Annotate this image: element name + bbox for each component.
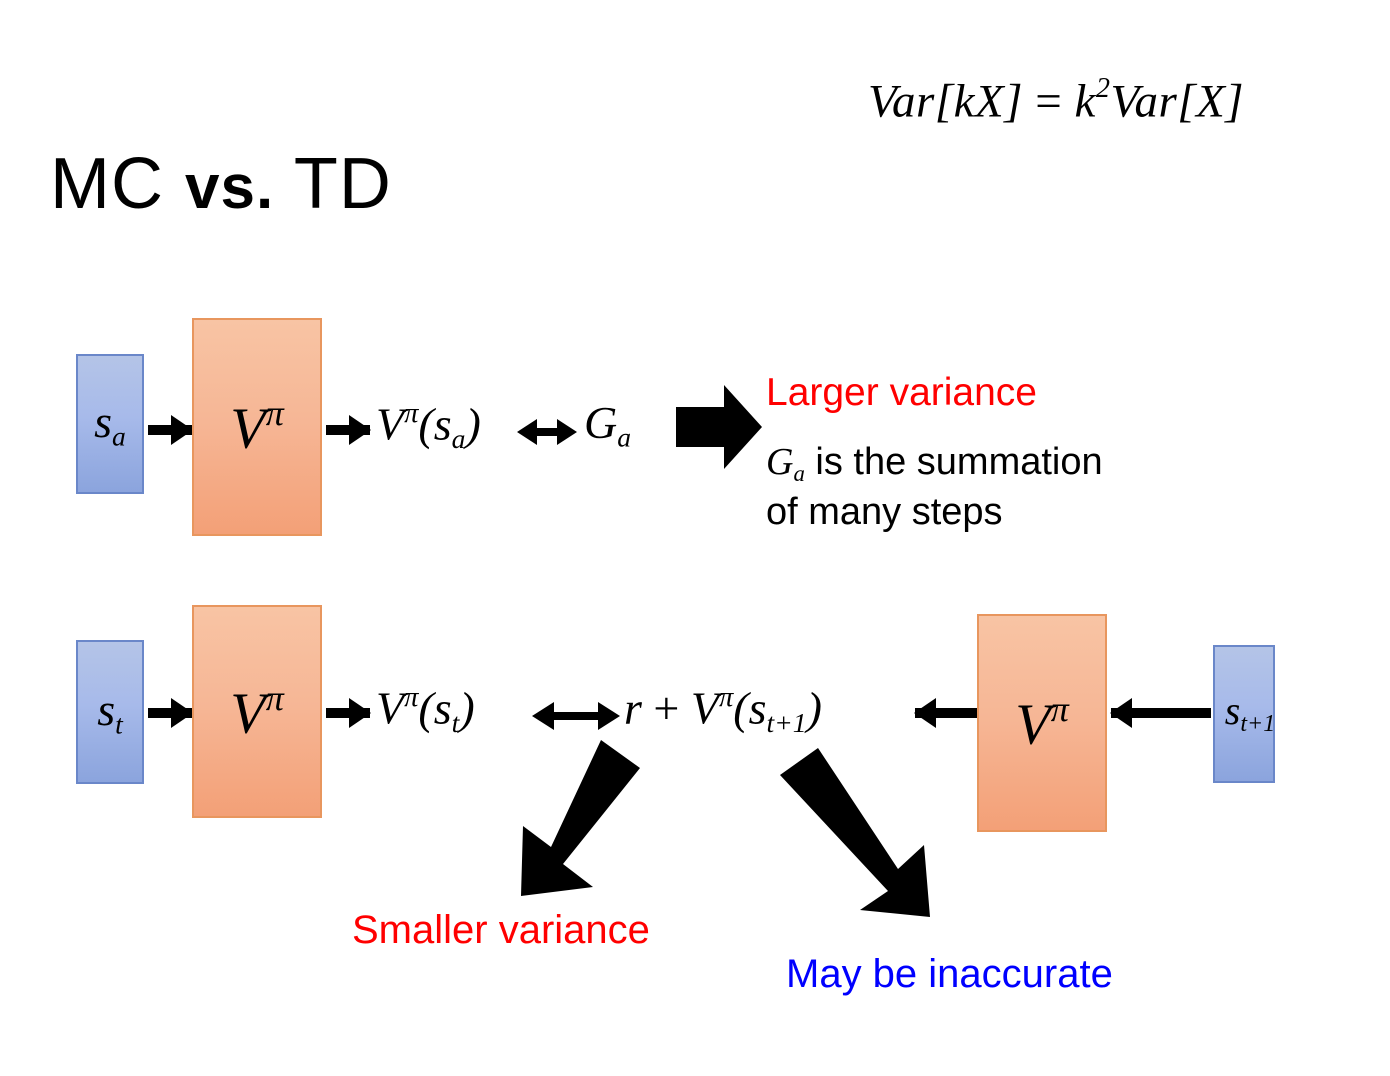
mc-double-arrow-head-left xyxy=(517,419,537,445)
td-may-be-inaccurate-block-arrow xyxy=(780,745,935,940)
td-state-subscript: t xyxy=(115,708,123,739)
formula-bracket-open-2: [ xyxy=(1177,76,1196,128)
td-output-right-paren-close: ) xyxy=(807,683,822,734)
td-state-symbol: s xyxy=(97,684,115,735)
td-value-right-superscript: π xyxy=(1051,689,1069,729)
mc-value-function-box: Vπ xyxy=(192,318,322,536)
mc-value-symbol: V xyxy=(230,396,265,461)
td-arrow-4-head xyxy=(1110,698,1132,728)
mc-double-arrow-head-right xyxy=(557,419,577,445)
td-smaller-variance-block-arrow xyxy=(505,740,640,905)
td-value-left-symbol: V xyxy=(230,680,265,745)
mc-summation-note-g: G xyxy=(766,441,793,483)
td-reward-symbol: r xyxy=(624,683,642,734)
td-output-right-state: s xyxy=(749,683,767,734)
td-double-arrow-head-right xyxy=(598,702,620,730)
mc-summation-note-g-subscript: a xyxy=(793,461,804,486)
td-value-function-box-right: Vπ xyxy=(977,614,1107,832)
mc-return-symbol: G xyxy=(584,397,617,448)
td-next-state-box-label: st+1 xyxy=(1225,691,1275,736)
mc-summation-note: Ga is the summation of many steps xyxy=(766,438,1196,537)
td-value-function-box-left: Vπ xyxy=(192,605,322,818)
mc-output-state-subscript: a xyxy=(452,423,466,454)
td-value-left-superscript: π xyxy=(266,678,284,718)
formula-bracket-close-2: ] xyxy=(1225,76,1244,128)
mc-state-subscript: a xyxy=(112,420,126,451)
mc-output-state: s xyxy=(434,399,452,450)
td-arrow-3-head xyxy=(914,698,936,728)
formula-exponent: 2 xyxy=(1096,73,1111,104)
td-output-right-state-subscript: t+1 xyxy=(767,707,807,738)
td-smaller-variance-callout: Smaller variance xyxy=(352,906,650,954)
mc-output-v: V xyxy=(376,399,404,450)
mc-value-superscript: π xyxy=(266,393,284,433)
mc-state-box: sa xyxy=(76,354,144,494)
td-output-left-paren-open: ( xyxy=(418,683,433,734)
td-state-box-label: st xyxy=(97,687,123,738)
variance-scaling-formula: Var[kX] = k2Var[X] xyxy=(868,75,1244,126)
mc-summation-note-line-2: of many steps xyxy=(766,488,1196,537)
td-double-arrow-head-left xyxy=(532,702,554,730)
td-next-state-subscript: t+1 xyxy=(1240,712,1275,738)
td-value-right-symbol: V xyxy=(1015,692,1050,757)
td-output-left-paren-close: ) xyxy=(459,683,474,734)
td-output-left-v: V xyxy=(376,683,404,734)
mc-output-superscript: π xyxy=(404,398,418,429)
mc-output-paren-close: ) xyxy=(465,399,480,450)
mc-value-function-label: Vπ xyxy=(230,396,283,457)
td-next-state-symbol: s xyxy=(1225,688,1241,733)
td-plus-sign: + xyxy=(653,683,679,734)
mc-state-box-label: sa xyxy=(94,399,126,450)
mc-output-paren-open: ( xyxy=(418,399,433,450)
td-output-right-superscript: π xyxy=(719,682,733,713)
td-output-left-state: s xyxy=(434,683,452,734)
mc-arrow-1-head xyxy=(171,415,193,445)
mc-state-symbol: s xyxy=(94,396,112,447)
mc-arrow-2-head xyxy=(349,415,371,445)
td-target-expression: r + Vπ(st+1) xyxy=(624,684,822,737)
td-value-function-right-label: Vπ xyxy=(1015,692,1068,753)
formula-var-1: Var xyxy=(868,76,935,128)
td-value-function-left-label: Vπ xyxy=(230,681,283,742)
page-title: MC vs. TD xyxy=(50,143,392,225)
td-output-left-superscript: π xyxy=(404,682,418,713)
formula-bracket-open-1: [ xyxy=(935,76,954,128)
td-value-estimate-expression: Vπ(st) xyxy=(376,684,475,737)
mc-return-expression: Ga xyxy=(584,400,631,451)
formula-X-1: X xyxy=(975,76,1004,128)
mc-callout-block-arrow xyxy=(676,385,762,469)
mc-summation-note-text-1: is the summation xyxy=(805,441,1103,483)
mc-summation-note-line-1: Ga is the summation xyxy=(766,438,1196,488)
formula-bracket-close-1: ] xyxy=(1004,76,1023,128)
formula-equals: = xyxy=(1035,76,1062,128)
formula-var-2: Var xyxy=(1110,76,1177,128)
td-may-be-inaccurate-callout: May be inaccurate xyxy=(786,950,1113,998)
mc-value-estimate-expression: Vπ(sa) xyxy=(376,400,481,453)
td-arrow-1-head xyxy=(171,698,193,728)
title-part-td: TD xyxy=(274,144,392,224)
td-output-right-v: V xyxy=(691,683,719,734)
td-arrow-2-head xyxy=(349,698,371,728)
td-next-state-box: st+1 xyxy=(1213,645,1275,783)
td-output-right-paren-open: ( xyxy=(733,683,748,734)
td-state-box: st xyxy=(76,640,144,784)
title-part-vs: vs. xyxy=(185,153,274,222)
formula-k-1: k xyxy=(954,76,975,128)
slide-canvas: Var[kX] = k2Var[X] MC vs. TD sa Vπ Vπ(sa… xyxy=(0,0,1390,1076)
formula-X-2: X xyxy=(1196,76,1225,128)
mc-larger-variance-callout: Larger variance xyxy=(766,370,1037,417)
mc-return-subscript: a xyxy=(617,421,631,452)
title-part-mc: MC xyxy=(50,144,185,224)
formula-k-2: k xyxy=(1075,76,1096,128)
